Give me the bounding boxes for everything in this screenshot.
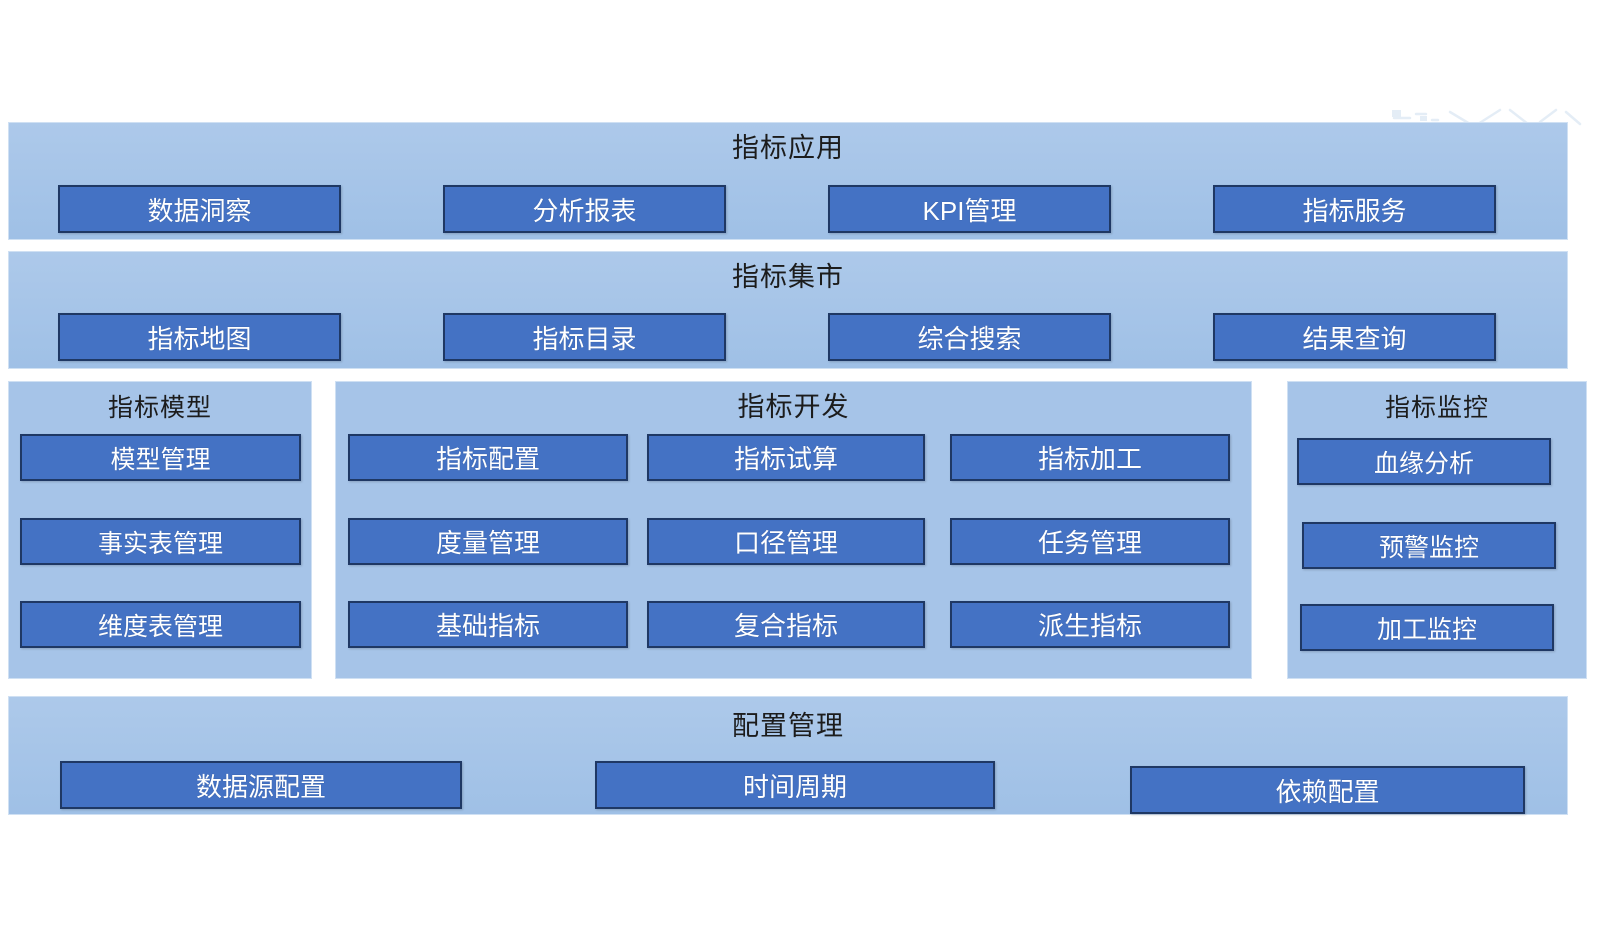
layer-title-app: 指标应用 — [9, 131, 1567, 165]
capability-button-model-management[interactable]: 模型管理 — [20, 434, 301, 481]
capability-button-result-query[interactable]: 结果查询 — [1213, 313, 1496, 361]
capability-button-time-period[interactable]: 时间周期 — [595, 761, 995, 809]
capability-button-task-management[interactable]: 任务管理 — [950, 518, 1230, 565]
capability-button-derived-metric[interactable]: 派生指标 — [950, 601, 1230, 648]
capability-button-data-insight[interactable]: 数据洞察 — [58, 185, 341, 233]
capability-button-composite-metric[interactable]: 复合指标 — [647, 601, 925, 648]
capability-button-alert-monitoring[interactable]: 预警监控 — [1302, 522, 1556, 569]
layer-title-model: 指标模型 — [9, 392, 311, 424]
layer-title-mart: 指标集市 — [9, 260, 1567, 294]
capability-button-datasource-configuration[interactable]: 数据源配置 — [60, 761, 462, 809]
layer-title-configuration: 配置管理 — [9, 709, 1567, 743]
capability-button-comprehensive-search[interactable]: 综合搜索 — [828, 313, 1111, 361]
capability-button-kpi-management[interactable]: KPI管理 — [828, 185, 1111, 233]
architecture-diagram-canvas: 指标应用 数据洞察 分析报表 KPI管理 指标服务 指标集市 指标地图 指标目录… — [0, 0, 1608, 940]
capability-button-caliber-management[interactable]: 口径管理 — [647, 518, 925, 565]
capability-button-measure-management[interactable]: 度量管理 — [348, 518, 628, 565]
capability-button-lineage-analysis[interactable]: 血缘分析 — [1297, 438, 1551, 485]
capability-button-dependency-configuration[interactable]: 依赖配置 — [1130, 766, 1525, 814]
capability-button-analysis-report[interactable]: 分析报表 — [443, 185, 726, 233]
capability-button-metric-service[interactable]: 指标服务 — [1213, 185, 1496, 233]
layer-title-development: 指标开发 — [336, 390, 1251, 424]
capability-button-metric-processing[interactable]: 指标加工 — [950, 434, 1230, 481]
capability-button-fact-table-management[interactable]: 事实表管理 — [20, 518, 301, 565]
capability-button-base-metric[interactable]: 基础指标 — [348, 601, 628, 648]
capability-button-metric-trial-calculation[interactable]: 指标试算 — [647, 434, 925, 481]
capability-button-metric-catalog[interactable]: 指标目录 — [443, 313, 726, 361]
capability-button-dimension-table-management[interactable]: 维度表管理 — [20, 601, 301, 648]
capability-button-processing-monitoring[interactable]: 加工监控 — [1300, 604, 1554, 651]
capability-button-metric-configuration[interactable]: 指标配置 — [348, 434, 628, 481]
layer-title-monitoring: 指标监控 — [1288, 392, 1586, 424]
capability-button-metric-map[interactable]: 指标地图 — [58, 313, 341, 361]
